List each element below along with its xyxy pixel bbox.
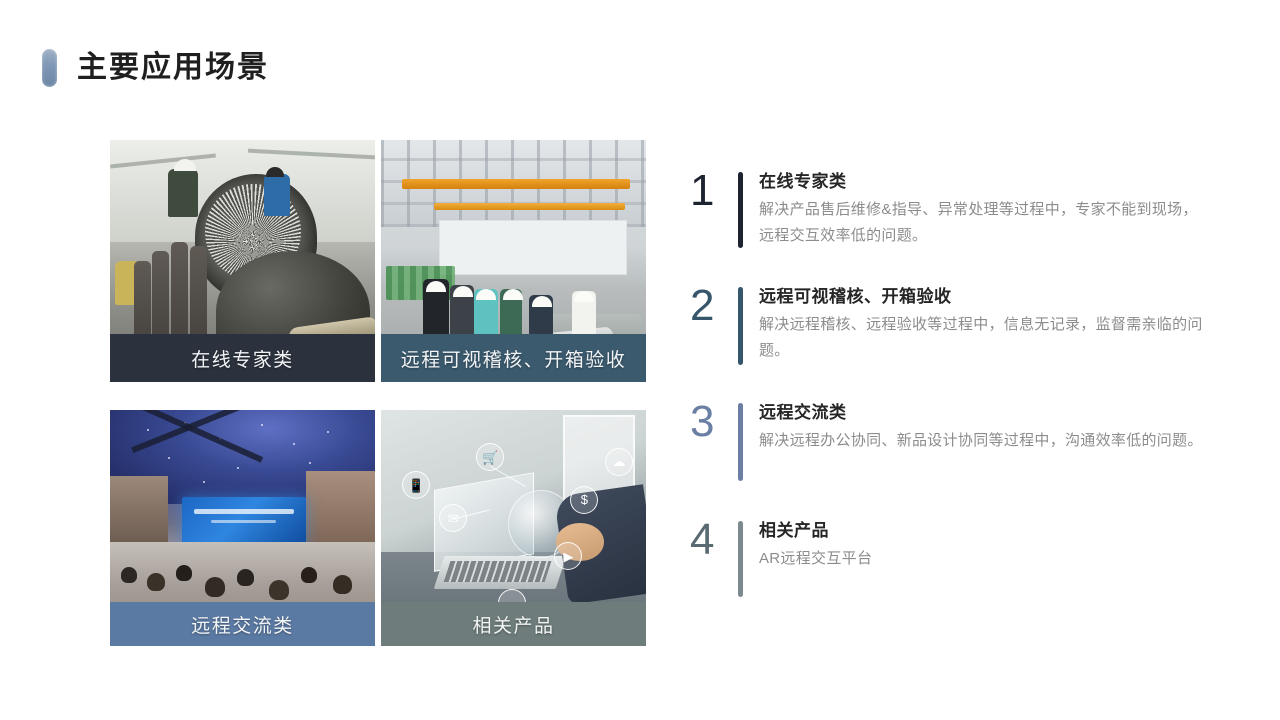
page-title-text: 主要应用场景 bbox=[77, 49, 269, 87]
tile-caption: 远程交流类 bbox=[110, 602, 375, 646]
list-item-heading: 相关产品 bbox=[759, 519, 1210, 543]
page-title: 主要应用场景 bbox=[42, 42, 269, 94]
list-item-accent-bar bbox=[738, 172, 743, 248]
cloud-icon: ☁ bbox=[605, 448, 633, 476]
list-item-number: 4 bbox=[690, 517, 730, 563]
list-item-accent-bar bbox=[738, 287, 743, 365]
list-item-description: 解决远程稽核、远程验收等过程中，信息无记录，监督需亲临的问题。 bbox=[759, 312, 1210, 364]
list-item-description: 解决产品售后维修&指导、异常处理等过程中，专家不能到现场，远程交互效率低的问题。 bbox=[759, 197, 1210, 249]
tile-caption: 在线专家类 bbox=[110, 334, 375, 382]
image-gallery: 在线专家类 bbox=[110, 140, 647, 646]
list-item-heading: 在线专家类 bbox=[759, 170, 1210, 194]
list-item-accent-bar bbox=[738, 403, 743, 481]
list-item[interactable]: 2 远程可视稽核、开箱验收 解决远程稽核、远程验收等过程中，信息无记录，监督需亲… bbox=[690, 283, 1210, 365]
cart-icon: 🛒 bbox=[476, 443, 504, 471]
list-item-heading: 远程可视稽核、开箱验收 bbox=[759, 285, 1210, 309]
tile-caption: 相关产品 bbox=[381, 602, 646, 646]
tile-caption: 远程可视稽核、开箱验收 bbox=[381, 334, 646, 382]
gallery-tile-remote-audit[interactable]: 远程可视稽核、开箱验收 bbox=[381, 140, 646, 382]
list-item-accent-bar bbox=[738, 521, 743, 597]
scenario-list: 1 在线专家类 解决产品售后维修&指导、异常处理等过程中，专家不能到现场，远程交… bbox=[690, 168, 1210, 597]
list-item-heading: 远程交流类 bbox=[759, 401, 1210, 425]
list-item-description: 解决远程办公协同、新品设计协同等过程中，沟通效率低的问题。 bbox=[759, 428, 1210, 454]
list-item-number: 1 bbox=[690, 168, 730, 214]
list-item-description: AR远程交互平台 bbox=[759, 546, 1210, 572]
gallery-tile-remote-communication[interactable]: 远程交流类 bbox=[110, 410, 375, 646]
dollar-icon: $ bbox=[570, 486, 598, 514]
gallery-tile-online-expert[interactable]: 在线专家类 bbox=[110, 140, 375, 382]
phone-icon: 📱 bbox=[402, 471, 430, 499]
title-bullet-icon bbox=[42, 49, 57, 87]
list-item-number: 2 bbox=[690, 283, 730, 329]
list-item-number: 3 bbox=[690, 399, 730, 445]
list-item[interactable]: 4 相关产品 AR远程交互平台 bbox=[690, 517, 1210, 597]
slide-root: 主要应用场景 bbox=[0, 0, 1280, 720]
gallery-tile-related-product[interactable]: 🛒 ✉ 📱 ☁ $ ▶ ▭ 相关产品 bbox=[381, 410, 646, 646]
list-item[interactable]: 3 远程交流类 解决远程办公协同、新品设计协同等过程中，沟通效率低的问题。 bbox=[690, 399, 1210, 481]
list-item[interactable]: 1 在线专家类 解决产品售后维修&指导、异常处理等过程中，专家不能到现场，远程交… bbox=[690, 168, 1210, 249]
